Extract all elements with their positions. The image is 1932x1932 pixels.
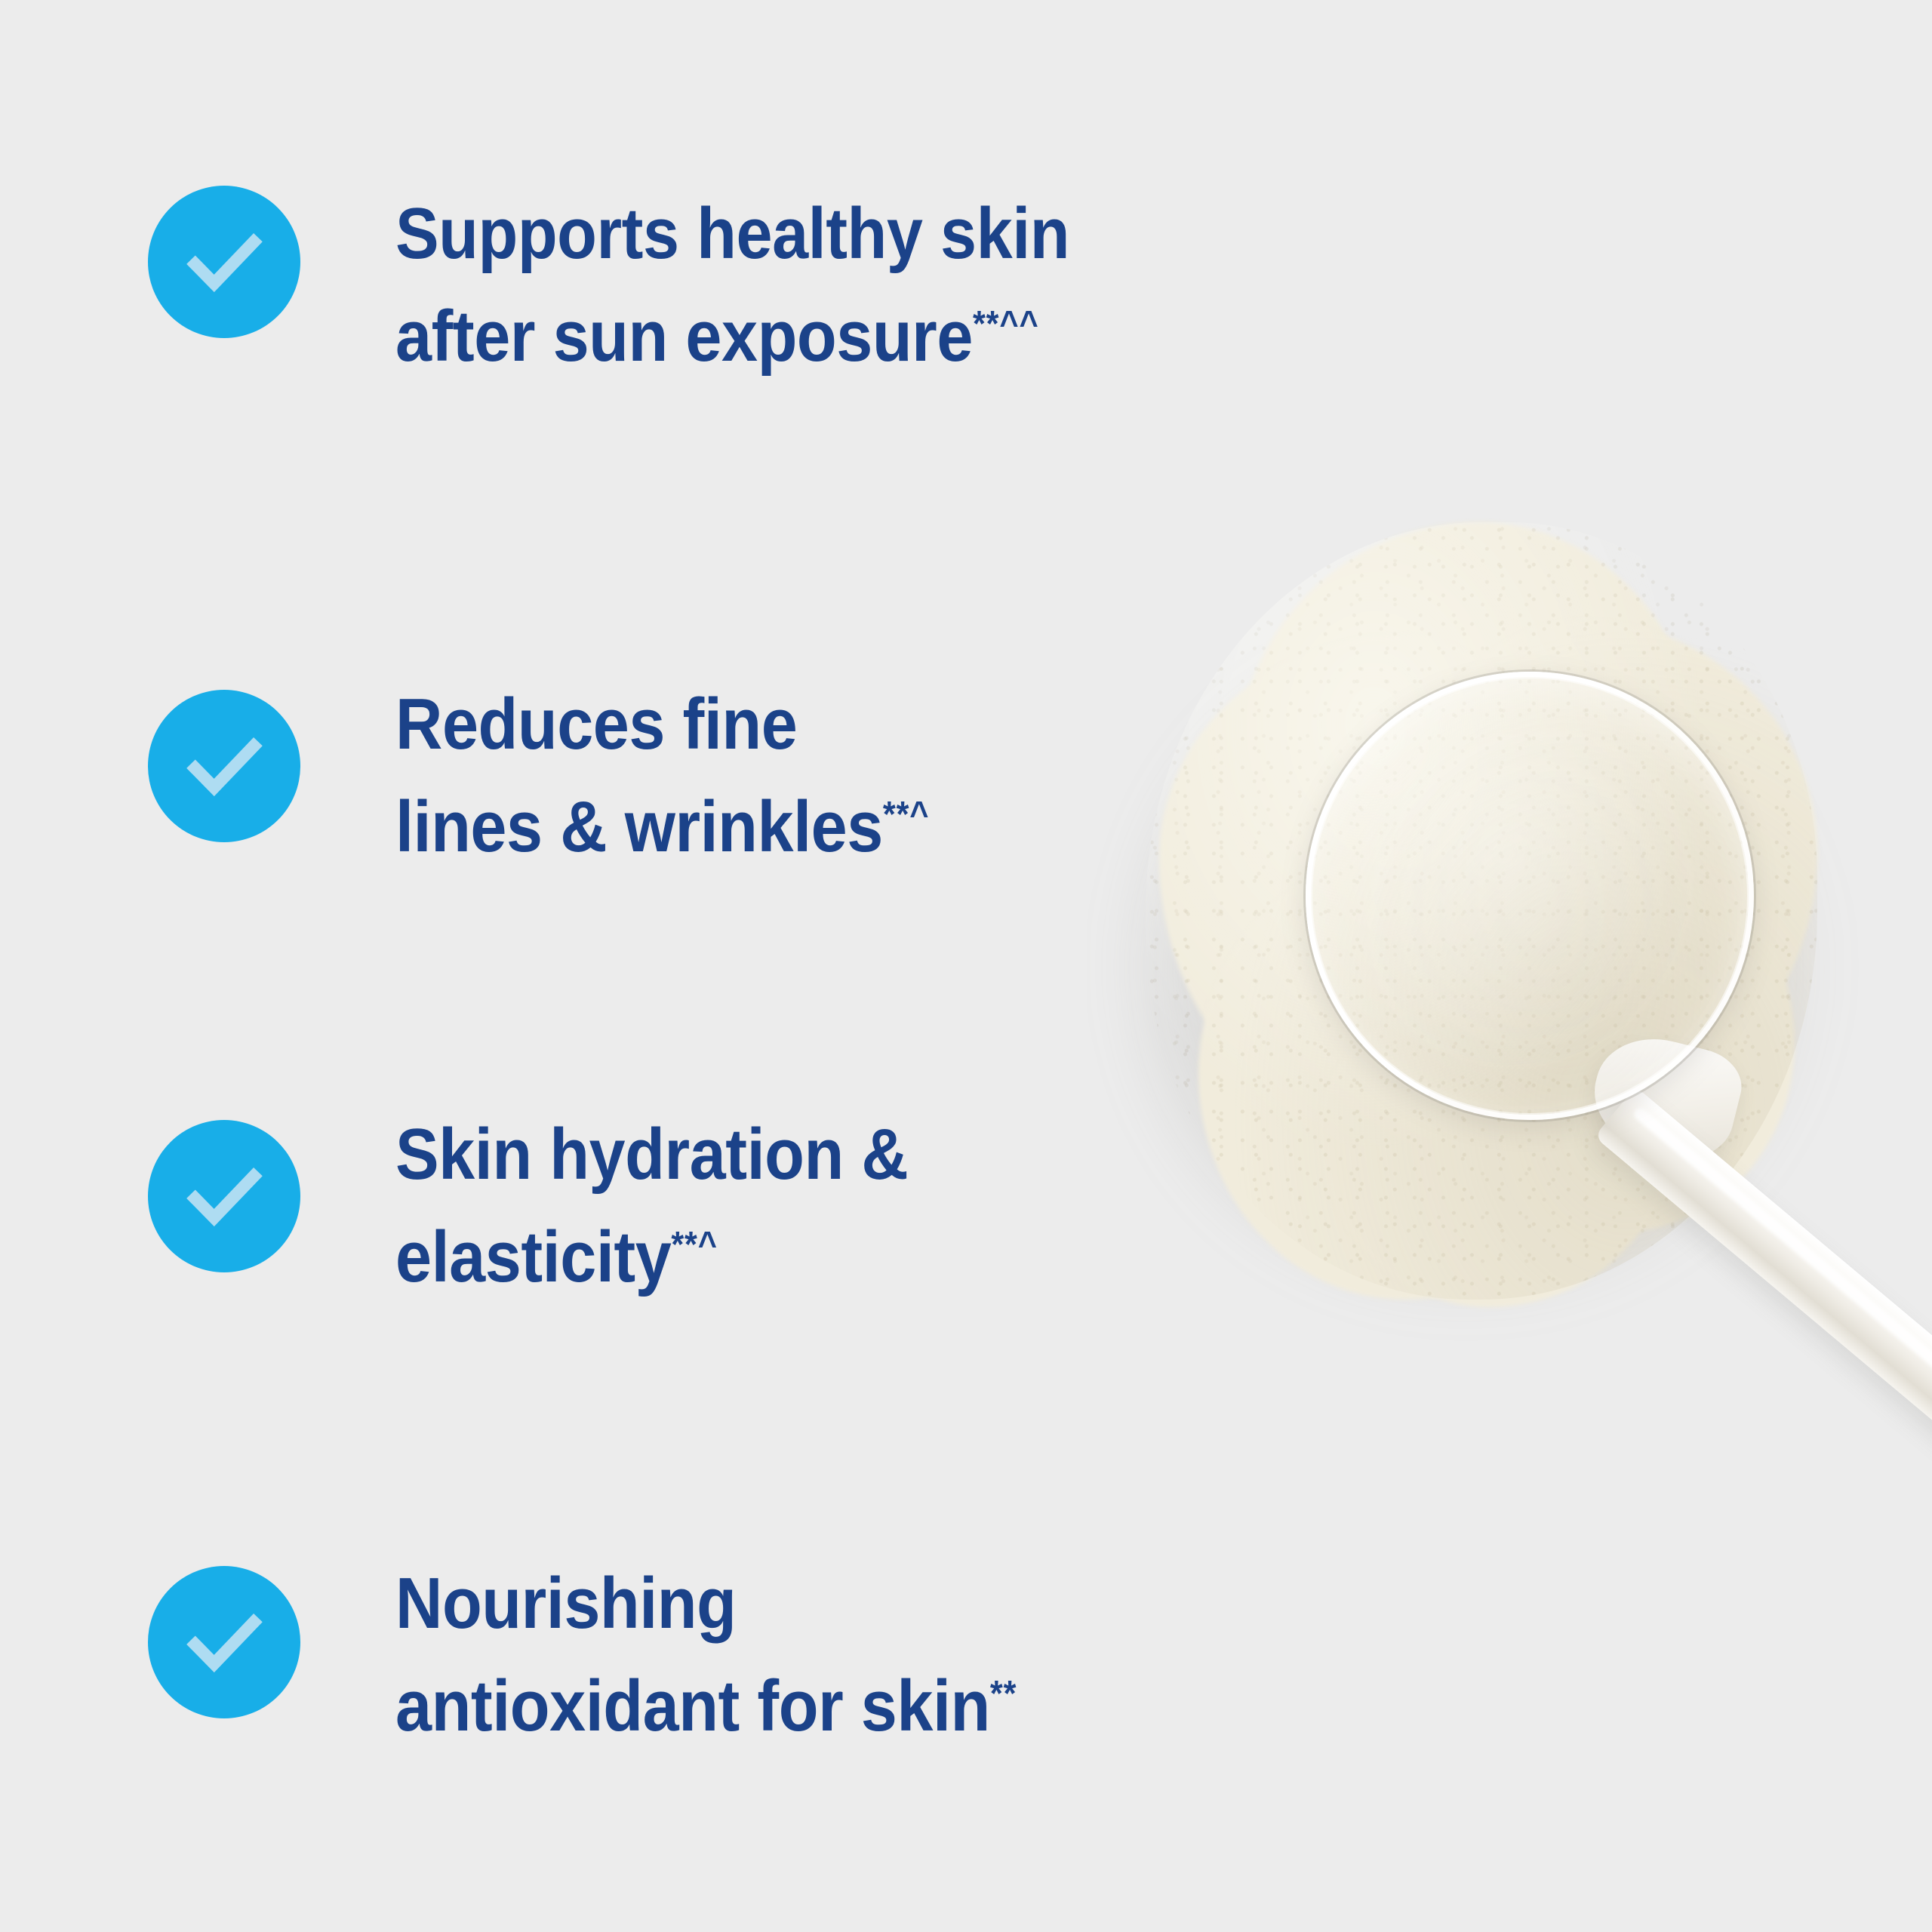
benefits-list: Supports healthy skin after sun exposure…	[0, 0, 1132, 1932]
benefit-line-2: elasticity**^	[395, 1200, 908, 1303]
check-circle-icon	[148, 186, 300, 338]
check-circle-icon	[148, 1566, 300, 1718]
check-circle-icon	[148, 690, 300, 842]
measuring-scoop-bowl	[1306, 672, 1754, 1120]
benefit-item-4: Nourishing antioxidant for skin**	[148, 1558, 1086, 1752]
check-circle-icon	[148, 1120, 300, 1272]
benefit-line-2: after sun exposure**^^	[395, 279, 1069, 382]
benefit-item-3: Skin hydration & elasticity**^	[148, 1109, 965, 1303]
benefit-line-2: lines & wrinkles**^	[395, 770, 929, 872]
benefit-line-2: antioxidant for skin**	[395, 1649, 1017, 1752]
benefit-footnote: **^	[883, 795, 930, 835]
benefit-text-1: Supports healthy skin after sun exposure…	[395, 189, 1069, 382]
benefit-text-2: Reduces fine lines & wrinkles**^	[395, 679, 929, 872]
benefit-line-1: Nourishing	[395, 1558, 1017, 1649]
benefit-footnote: **^	[671, 1225, 718, 1265]
collagen-powder-photo: 1	[1087, 453, 1932, 1932]
promo-canvas: Supports healthy skin after sun exposure…	[0, 0, 1932, 1932]
benefit-line-1: Reduces fine	[395, 679, 929, 770]
benefit-text-3: Skin hydration & elasticity**^	[395, 1109, 908, 1303]
benefit-footnote: **^^	[973, 304, 1039, 344]
benefit-item-2: Reduces fine lines & wrinkles**^	[148, 679, 989, 872]
benefit-item-1: Supports healthy skin after sun exposure…	[148, 189, 1144, 382]
benefit-line-1: Supports healthy skin	[395, 189, 1069, 279]
benefit-line-1: Skin hydration &	[395, 1109, 908, 1200]
benefit-footnote: **	[990, 1674, 1017, 1714]
benefit-text-4: Nourishing antioxidant for skin**	[395, 1558, 1017, 1752]
